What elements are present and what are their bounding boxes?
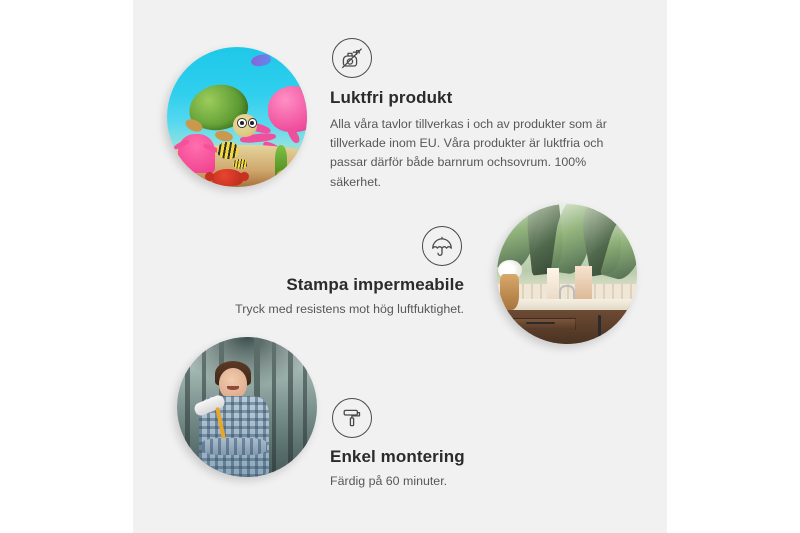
underwater-scene <box>167 47 307 187</box>
underwater-cartoon-photo <box>167 47 307 187</box>
gold-vase <box>500 274 520 310</box>
feature-body: Färdig på 60 minuter. <box>330 472 610 491</box>
tissue-box <box>575 266 592 302</box>
turtle-eye <box>237 118 247 128</box>
starfish <box>276 169 298 184</box>
feature-waterproof-print: Stampa impermeabile Tryck med resistens … <box>180 226 464 319</box>
octopus-head <box>268 86 307 132</box>
feature-title: Stampa impermeabile <box>180 275 464 295</box>
paint-roller-icon <box>332 398 372 438</box>
wooden-vanity <box>505 310 637 344</box>
feature-easy-assembly: Enkel montering Färdig på 60 minuter. <box>330 398 610 491</box>
crab <box>212 169 243 186</box>
bottle <box>547 268 558 302</box>
feature-body: Tryck med resistens mot hög luftfuktighe… <box>180 300 464 319</box>
feature-title: Enkel montering <box>330 447 610 467</box>
feature-odour-free: Luktfri produkt Alla våra tavlor tillver… <box>330 38 630 192</box>
tree-trunk <box>303 337 307 477</box>
turtle-flipper <box>214 129 234 142</box>
tree-trunk <box>185 337 190 477</box>
tree-trunk <box>288 337 294 477</box>
painter-scene <box>177 337 317 477</box>
purple-fish <box>250 53 271 68</box>
small-striped-fish <box>233 159 247 169</box>
bathroom-wallpaper-photo <box>497 204 637 344</box>
feature-title: Luktfri produkt <box>330 88 630 108</box>
drawer-handle <box>526 322 555 323</box>
cabinet-handle <box>598 315 602 336</box>
no-perfume-icon <box>332 38 372 78</box>
striped-fish <box>217 142 238 159</box>
bathroom-scene <box>497 204 637 344</box>
feature-body: Alla våra tavlor tillverkas i och av pro… <box>330 115 630 192</box>
tree-trunk <box>272 337 276 477</box>
painter-forest-photo <box>177 337 317 477</box>
face <box>219 368 247 399</box>
pink-coral <box>178 134 214 173</box>
umbrella-icon <box>422 226 462 266</box>
vanity-drawer <box>513 318 576 331</box>
feature-panel-screenshot: Luktfri produkt Alla våra tavlor tillver… <box>0 0 800 533</box>
folded-arms <box>202 438 266 455</box>
turtle-eye <box>248 118 258 128</box>
